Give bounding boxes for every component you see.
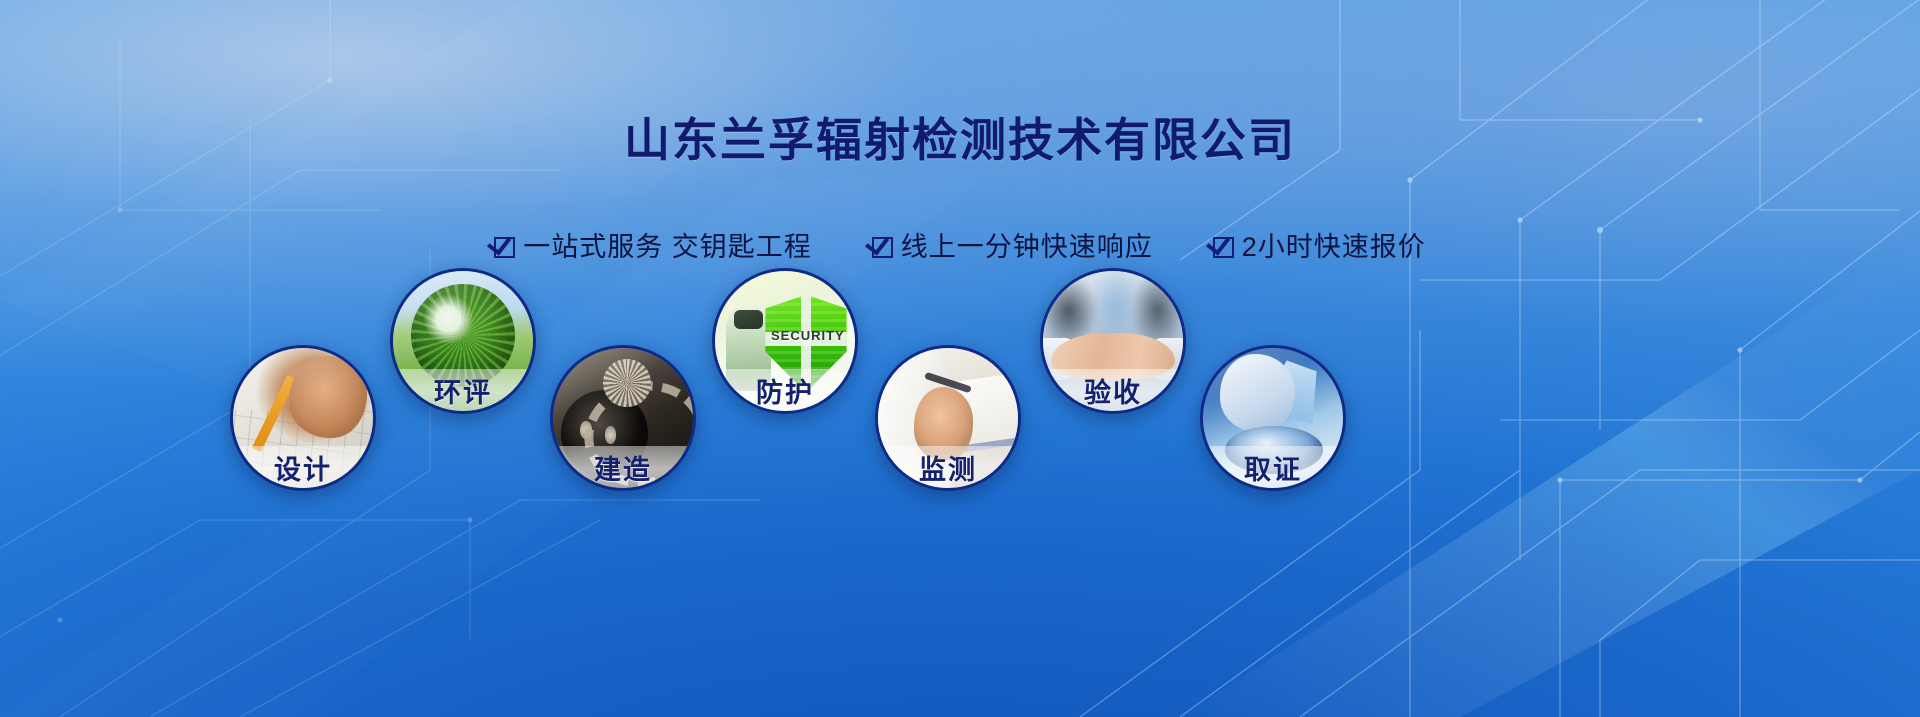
service-circle-design[interactable]: 设计 [230,345,376,491]
service-circle-list: 设计 环评 建造 [0,0,1920,717]
service-label: 取证 [1203,446,1343,488]
service-circle-monitoring[interactable]: 监测 [875,345,1021,491]
service-label: 建造 [553,446,693,488]
service-label: 防护 [715,369,855,411]
security-badge-text: SECURITY [771,328,844,343]
gloved-hand-shape [1220,354,1296,432]
service-label: 环评 [393,369,533,411]
service-label: 验收 [1043,369,1183,411]
hand-shape [289,356,367,437]
service-circle-eia[interactable]: 环评 [390,268,536,414]
service-circle-acceptance[interactable]: 验收 [1040,268,1186,414]
service-circle-protection[interactable]: SECURITY 防护 [712,268,858,414]
company-banner: 山东兰孚辐射检测技术有限公司 一站式服务 交钥匙工程 线上一分钟快速响应 2小时… [0,0,1920,717]
service-label: 监测 [878,446,1018,488]
service-circle-construction[interactable]: 建造 [550,345,696,491]
service-label: 设计 [233,446,373,488]
service-circle-certification[interactable]: 取证 [1200,345,1346,491]
small-gear-icon [603,359,651,407]
